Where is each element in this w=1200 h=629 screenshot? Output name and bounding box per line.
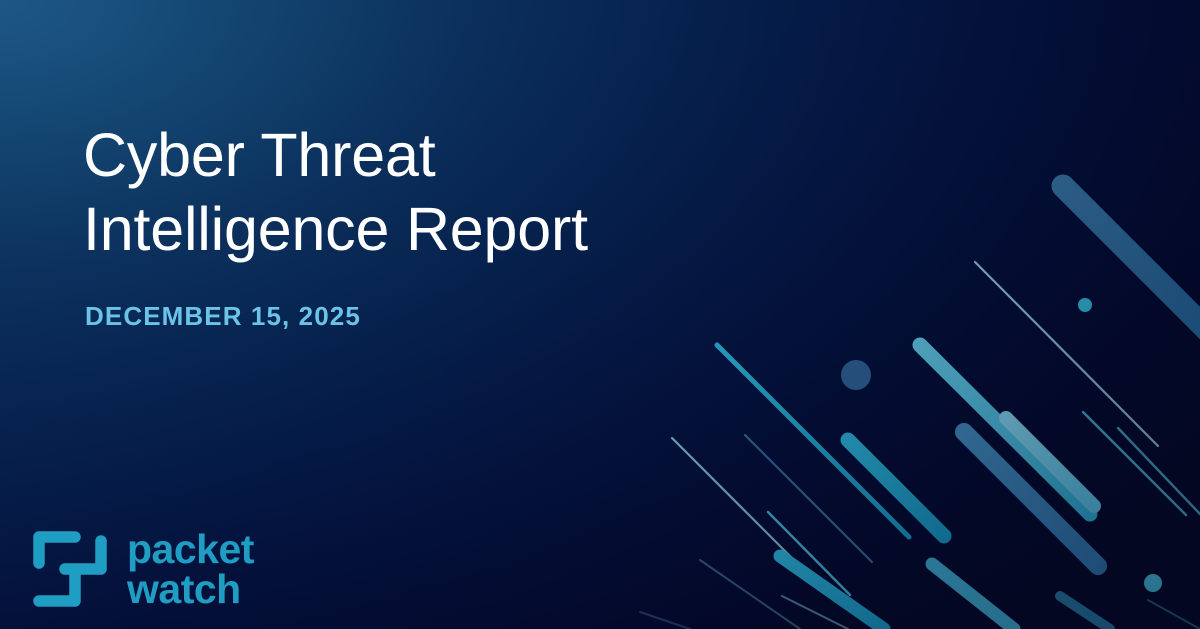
streak-thick-steel	[964, 432, 1098, 566]
streak-hairline	[975, 262, 1158, 446]
brand-wordmark-line-1: packet	[127, 529, 254, 569]
packetwatch-logo-mark	[31, 525, 109, 613]
streak-cyan-medium	[717, 345, 909, 537]
streak-hairline	[1118, 428, 1200, 514]
streak-hairline	[768, 512, 850, 595]
streak-cyan-rod	[1060, 596, 1110, 629]
report-date: DECEMBER 15, 2025	[85, 301, 361, 332]
streak-cyan-rod	[848, 440, 944, 536]
streak-thick-muted	[1063, 186, 1200, 381]
brand-wordmark-line-2: watch	[127, 569, 254, 609]
decor-dot-muted	[841, 360, 871, 390]
streak-bright-cyan	[920, 345, 1090, 514]
report-cover-slide: Cyber Threat Intelligence Report DECEMBE…	[0, 0, 1200, 629]
streak-cyan-rod	[932, 564, 1014, 629]
streak-hairline	[1148, 600, 1200, 629]
brand-logo: packet watch	[31, 525, 254, 613]
streak-hairline	[1083, 412, 1186, 515]
streak-cyan-rod	[780, 556, 884, 629]
streak-hairline	[782, 596, 848, 629]
brand-wordmark: packet watch	[127, 529, 254, 609]
page-title: Cyber Threat Intelligence Report	[83, 118, 723, 267]
decor-dot-cyan	[1078, 298, 1092, 312]
streak-hairline	[745, 435, 872, 562]
streak-pale-cyan	[1006, 418, 1094, 506]
decor-dot-cyan	[1144, 574, 1162, 592]
